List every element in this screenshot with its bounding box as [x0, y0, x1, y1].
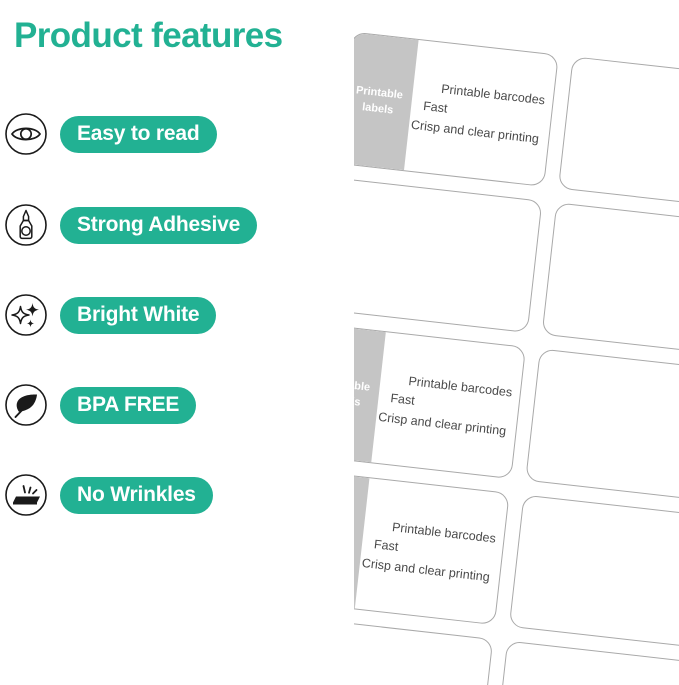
feature-badge-no-wrinkles[interactable]: No Wrinkles: [60, 477, 213, 514]
feature-row-bpa-free: BPA FREE: [4, 383, 196, 427]
label-cell: [509, 495, 679, 650]
feature-row-bright-white: Bright White: [4, 293, 216, 337]
label-swatch-line: labels: [361, 101, 394, 118]
feature-badge-bright-white[interactable]: Bright White: [60, 297, 216, 334]
smooth-surface-icon: [4, 473, 48, 517]
glue-bottle-icon: [4, 203, 48, 247]
page-title: Product features: [14, 16, 283, 56]
label-printed-text: Printable barcodesFastCrisp and clear pr…: [383, 333, 517, 477]
feature-row-no-wrinkles: No Wrinkles: [4, 473, 213, 517]
label-printed-text: Printable barcodesFastCrisp and clear pr…: [416, 41, 550, 185]
feature-row-strong-adhesive: Strong Adhesive: [4, 203, 257, 247]
sparkles-icon: [4, 293, 48, 337]
features-panel: Product features Easy to read Strong Adh…: [0, 0, 340, 685]
label-printed-text: Printable barcodesFastCrisp and clear pr…: [367, 480, 501, 624]
label-cell: [558, 56, 679, 211]
eye-icon: [4, 112, 48, 156]
label-cell: [525, 348, 679, 503]
label-cell: [321, 178, 543, 333]
label-cell: [542, 202, 679, 357]
feature-badge-strong-adhesive[interactable]: Strong Adhesive: [60, 207, 257, 244]
label-cell: PrintablelabelsPrintable barcodesFastCri…: [337, 32, 559, 187]
feature-row-easy-to-read: Easy to read: [4, 112, 217, 156]
feature-badge-bpa-free[interactable]: BPA FREE: [60, 387, 196, 424]
leaf-icon: [4, 383, 48, 427]
label-cell: [492, 641, 679, 685]
feature-badge-easy-to-read[interactable]: Easy to read: [60, 116, 217, 153]
